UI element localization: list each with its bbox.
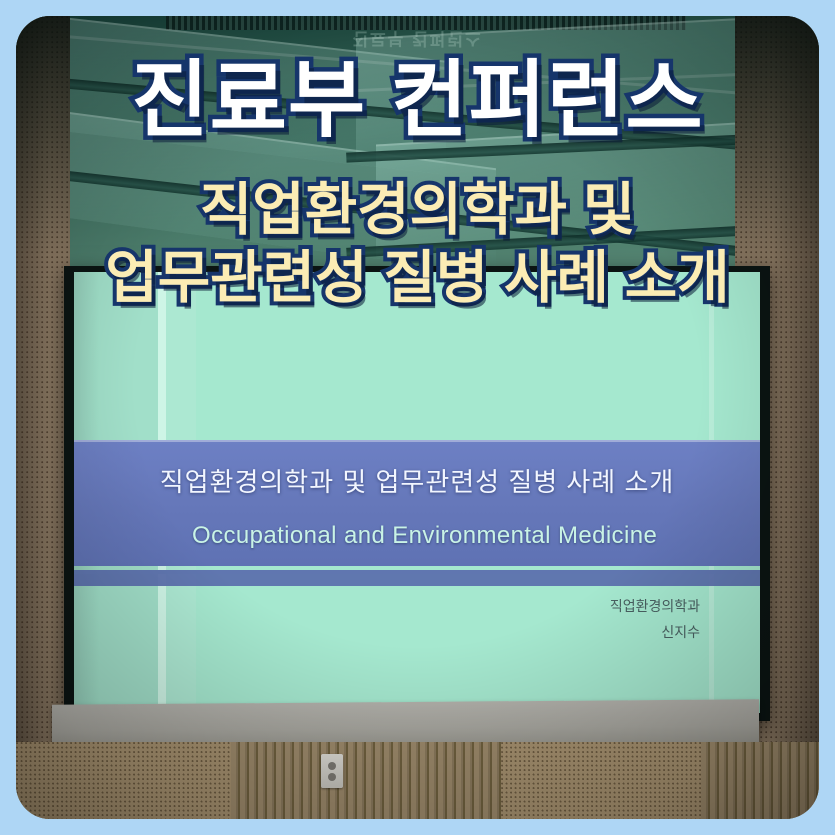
- slide-presenter-block: 직업환경의학과 신지수: [610, 594, 700, 646]
- presenter-department: 직업환경의학과: [610, 594, 700, 620]
- slide-english-subtitle: Occupational and Environmental Medicine: [192, 522, 657, 550]
- outlet-socket-bottom: [328, 773, 336, 781]
- wood-wall-perforated-left: [16, 742, 231, 819]
- wall-outlet-plate: [321, 754, 343, 788]
- right-wall-shadow: [735, 16, 819, 256]
- lower-wood-wall: [16, 742, 819, 819]
- wood-wall-slats-center: [231, 742, 501, 819]
- slide-korean-title: 직업환경의학과 및 업무관련성 질병 사례 소개: [74, 462, 760, 499]
- slide-title-band: 직업환경의학과 및 업무관련성 질병 사례 소개 Occupational an…: [74, 440, 760, 566]
- presenter-name: 신지수: [610, 620, 700, 646]
- left-acoustic-wall-panel: [16, 16, 70, 819]
- projection-screen-surface: 직업환경의학과 및 업무관련성 질병 사례 소개 Occupational an…: [74, 272, 760, 713]
- slide-band-underline: [74, 570, 760, 586]
- wood-wall-slats-far-right: [701, 742, 819, 819]
- projection-screen-frame: 직업환경의학과 및 업무관련성 질병 사례 소개 Occupational an…: [64, 266, 770, 721]
- left-wall-shadow: [16, 16, 70, 256]
- poster-card: 진료부 컨퍼런스 직업환경의학과 및 업무관련성 질병 사례 소개 Occupa…: [0, 0, 835, 835]
- outlet-socket-top: [328, 762, 336, 770]
- conference-room-photo: 진료부 컨퍼런스 직업환경의학과 및 업무관련성 질병 사례 소개 Occupa…: [16, 16, 819, 819]
- wood-wall-perforated-right: [501, 742, 701, 819]
